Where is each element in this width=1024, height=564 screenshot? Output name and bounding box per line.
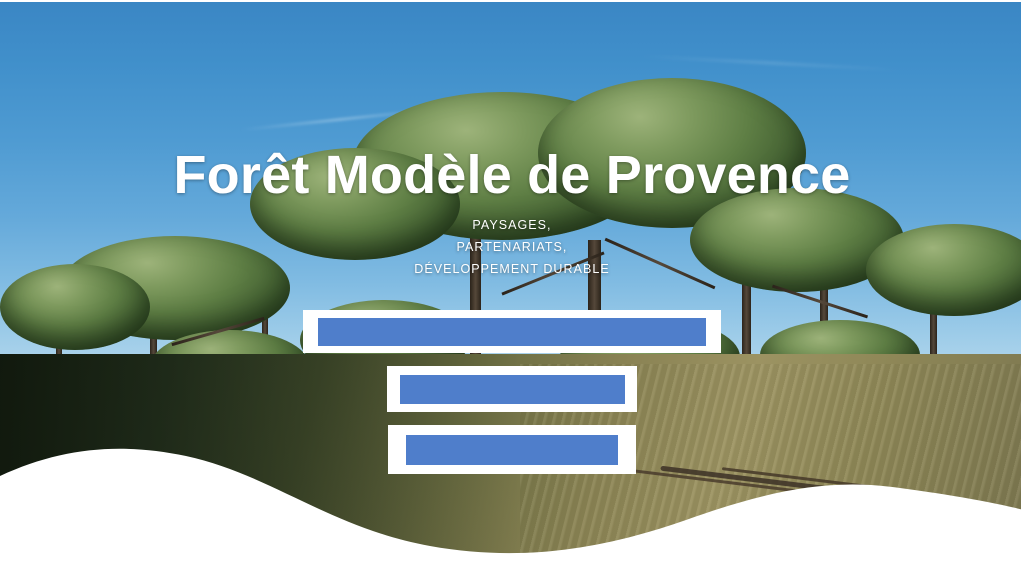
nav-item-secondary-placeholder[interactable]	[400, 375, 625, 404]
subtitle-line-2: PARTENARIATS,	[414, 236, 609, 258]
nav-item-primary[interactable]	[303, 310, 721, 353]
frame-edge-top	[0, 0, 1024, 2]
page-title: Forêt Modèle de Provence	[174, 0, 851, 204]
nav-item-secondary[interactable]	[387, 366, 637, 412]
bottom-wave-divider	[0, 424, 1024, 564]
subtitle-line-1: PAYSAGES,	[414, 214, 609, 236]
hero-banner: Forêt Modèle de Provence PAYSAGES, PARTE…	[0, 0, 1024, 564]
subtitle-line-3: DÉVELOPPEMENT DURABLE	[414, 258, 609, 280]
hero-subtitle: PAYSAGES, PARTENARIATS, DÉVELOPPEMENT DU…	[414, 214, 609, 280]
nav-item-primary-placeholder[interactable]	[318, 318, 706, 346]
